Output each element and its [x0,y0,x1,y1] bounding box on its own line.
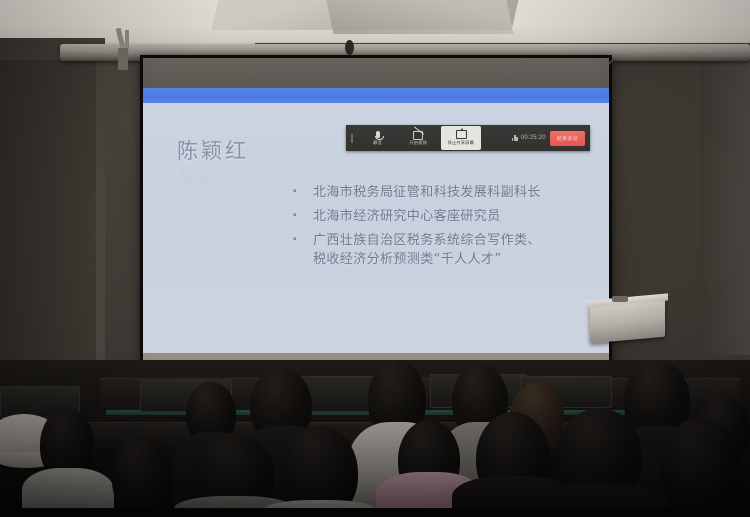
slide-accent-banner [143,88,609,103]
recording-bars-icon [512,135,518,141]
photo-bottom-edge [0,508,750,517]
stop-share-button-label: 停止共享屏幕 [448,140,474,146]
end-meeting-button[interactable]: 结束会议 [550,131,585,146]
bullet-text-line1: 广西壮族自治区税务系统综合写作类、 [313,233,541,248]
podium-device [612,296,628,302]
screenshot-root: 投影 陈颖红 陈颖红 ▪ 北海市税务局征管和科技发展科副科长 ▪ 北海市经济研究… [0,0,750,517]
slide-title: 陈颖红 [177,135,249,165]
slide-bullet-list: ▪ 北海市税务局征管和科技发展科副科长 ▪ 北海市经济研究中心客座研究员 ▪ 广… [291,183,591,274]
list-item: ▪ 广西壮族自治区税务系统综合写作类、 税收经济分析预测类“千人人才” [291,231,591,269]
list-item: ▪ 北海市经济研究中心客座研究员 [291,207,591,226]
slide-title-reflection: 陈颖红 [179,166,236,187]
left-wall-panel [0,60,96,360]
bullet-text: 北海市税务局征管和科技发展科副科长 [313,183,541,202]
bullet-text-multiline: 广西壮族自治区税务系统综合写作类、 税收经济分析预测类“千人人才” [313,231,541,269]
share-screen-icon [456,130,467,139]
ceiling-beam-secondary [326,0,513,34]
mute-button-label: 静音 [374,140,383,146]
mute-button[interactable]: 静音 [361,126,395,150]
start-video-button[interactable]: 开启视频 [401,126,435,150]
recording-status: 00:25:20 [512,135,546,141]
start-video-button-label: 开启视频 [409,140,427,146]
bullet-marker: ▪ [291,183,313,201]
bullet-text-line2: 税收经济分析预测类“千人人才” [313,250,541,269]
bullet-marker: ▪ [291,231,313,249]
audience-area [0,360,750,517]
roller-cable-clip [345,40,354,55]
right-wall-highlight [700,55,750,355]
microphone-icon [376,130,380,139]
audience-shadow-overlay [0,360,750,517]
meeting-timer: 00:25:20 [521,135,546,141]
roller-mount [118,48,128,70]
list-item: ▪ 北海市税务局征管和科技发展科副科长 [291,183,591,202]
bullet-marker: ▪ [291,207,313,225]
drag-grip-icon[interactable] [346,125,358,151]
bullet-text: 北海市经济研究中心客座研究员 [313,207,501,226]
presentation-chrome-band [143,58,609,88]
camera-off-icon [413,130,424,139]
meeting-toolbar[interactable]: 静音 开启视频 停止共享屏幕 00:25:20 结束会议 [346,125,590,151]
slide-canvas: 陈颖红 陈颖红 ▪ 北海市税务局征管和科技发展科副科长 ▪ 北海市经济研究中心客… [143,88,609,353]
stop-share-button[interactable]: 停止共享屏幕 [441,126,481,150]
